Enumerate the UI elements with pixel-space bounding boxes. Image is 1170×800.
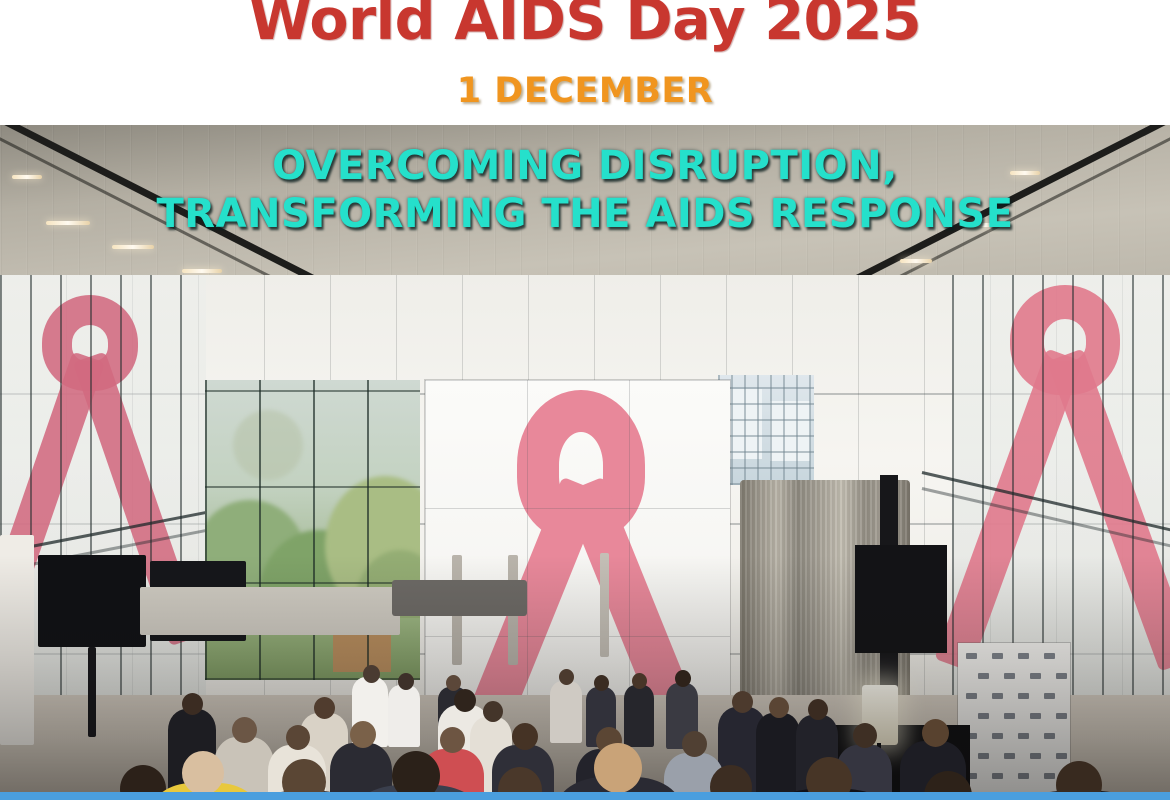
security-gate	[600, 553, 609, 657]
person-head	[446, 675, 461, 691]
person-head	[512, 723, 538, 750]
person-head	[853, 723, 877, 748]
person-head	[182, 751, 224, 792]
person	[756, 713, 800, 792]
header-band: World AIDS Day 2025 1 DECEMBER	[0, 0, 1170, 125]
person-head	[922, 719, 949, 747]
person-head	[559, 669, 574, 685]
person-head	[1056, 761, 1102, 792]
registration-desk	[140, 587, 400, 635]
backdrop-logo	[966, 653, 977, 659]
ceiling-light	[900, 259, 932, 263]
person-head	[182, 693, 203, 715]
person-head	[398, 673, 414, 690]
person-head	[594, 743, 642, 792]
person-head	[440, 727, 465, 753]
page-title: World AIDS Day 2025	[0, 0, 1170, 53]
person-head	[350, 721, 376, 748]
person-head	[232, 717, 257, 743]
security-scanner	[392, 580, 527, 616]
slogan-line-1: OVERCOMING DISRUPTION,	[0, 142, 1170, 190]
person-head	[120, 765, 166, 792]
exterior-window-right	[718, 375, 814, 485]
speaker-box	[855, 545, 947, 653]
building-windows	[718, 375, 814, 485]
person-head	[454, 689, 476, 712]
ceiling-light	[112, 245, 154, 249]
event-photo: OVERCOMING DISRUPTION, TRANSFORMING THE …	[0, 125, 1170, 792]
ceiling-light	[182, 269, 222, 273]
backdrop-logo	[1018, 653, 1029, 659]
footer-accent-bar	[0, 792, 1170, 800]
person-head	[594, 675, 609, 691]
event-date: 1 DECEMBER	[0, 71, 1170, 111]
backdrop-logo	[992, 653, 1003, 659]
display-monitor	[38, 555, 146, 647]
person-head	[286, 725, 310, 750]
person-head	[632, 673, 647, 689]
world-aids-day-banner: World AIDS Day 2025 1 DECEMBER	[0, 0, 1170, 800]
person-head	[808, 699, 828, 720]
backdrop-logo	[1044, 653, 1055, 659]
campaign-slogan: OVERCOMING DISRUPTION, TRANSFORMING THE …	[0, 142, 1170, 238]
person-head	[483, 701, 503, 722]
person	[624, 685, 654, 747]
slogan-line-2: TRANSFORMING THE AIDS RESPONSE	[0, 190, 1170, 238]
person	[330, 743, 392, 792]
person-head	[675, 670, 691, 687]
person-head	[732, 691, 753, 713]
person-head	[682, 731, 707, 757]
person-head	[363, 665, 380, 683]
crowd	[0, 665, 1170, 792]
person-head	[769, 697, 789, 718]
person	[550, 681, 582, 743]
person-head	[314, 697, 335, 719]
person	[388, 685, 420, 747]
